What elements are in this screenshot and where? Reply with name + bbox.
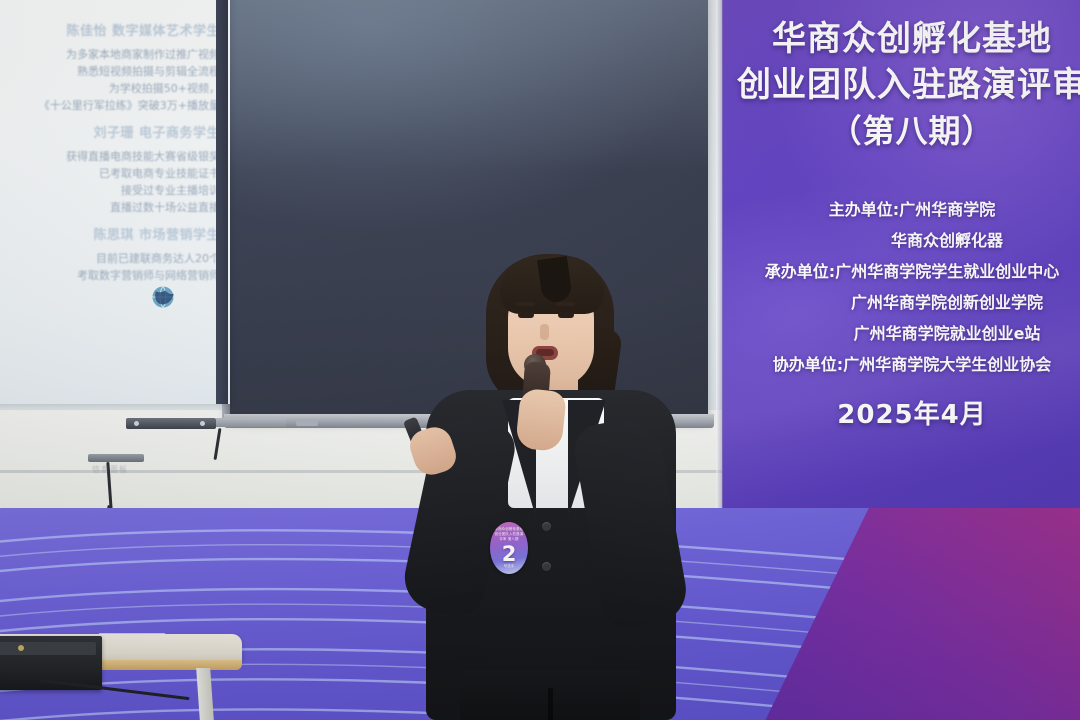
slide-block-heading: 刘子珊 电子商务学生 <box>0 122 220 141</box>
backdrop-title-line1: 华商众创孵化基地 <box>772 19 1052 59</box>
slide-bullet: 接受过专业主播培训 <box>0 182 220 199</box>
organizer-row: 协办单位:广州华商学院大学生创业协会 <box>722 349 1080 380</box>
backdrop-title-line2: 创业团队入驻路演评审 <box>722 62 1080 108</box>
organizer-value: 广州华商学院创新创业学院 <box>851 293 1043 312</box>
eye-left <box>518 312 534 318</box>
slide-bullet: 为学校拍摄50+视频， <box>0 80 220 97</box>
jacket-button <box>542 562 551 571</box>
slide-block: 陈佳怡 数字媒体艺术学生 为多家本地商家制作过推广视频 熟悉短视频拍摄与剪辑全流… <box>0 20 220 114</box>
device-led <box>18 645 24 651</box>
backdrop-organizer-list: 主办单位:广州华商学院 华商众创孵化器 承办单位:广州华商学院学生就业创业中心 … <box>722 194 1080 380</box>
globe-icon <box>150 284 176 310</box>
projection-screen: 陈佳怡 数字媒体艺术学生 为多家本地商家制作过推广视频 熟悉短视频拍摄与剪辑全流… <box>0 0 230 404</box>
slide-bullet: 为多家本地商家制作过推广视频 <box>0 46 220 63</box>
device-slot <box>0 642 96 655</box>
badge-subtext: 号选手 <box>490 564 528 569</box>
backdrop-title-line3: （第八期） <box>722 108 1080 154</box>
speaker-person: 华商众创孵化基地 创业团队入驻路演评审 第八期 2 号选手 <box>390 250 690 720</box>
organizer-row: 广州华商学院创新创业学院 <box>722 287 1080 318</box>
event-photo-stage: 陈佳怡 数字媒体艺术学生 为多家本地商家制作过推广视频 熟悉短视频拍摄与剪辑全流… <box>0 0 1080 720</box>
trouser-seam <box>548 688 553 720</box>
backdrop-date: 2025年4月 <box>722 394 1080 431</box>
eye-right <box>558 312 574 318</box>
eyebrow-right <box>556 302 575 306</box>
slide-block: 陈思琪 市场营销学生 目前已建联商务达人20个 考取数字营销师与网络营销师 <box>0 224 220 284</box>
screen-mount-plate <box>216 418 286 427</box>
wall-socket-label: 信息面板 <box>92 464 144 476</box>
slide-bullet: 已考取电商专业技能证书 <box>0 165 220 182</box>
blackboard-glare <box>228 0 708 171</box>
slide-bullet: 《十公里行军拉练》突破3万+播放量 <box>0 97 220 114</box>
slide-bullet: 目前已建联商务达人20个 <box>0 250 220 267</box>
badge-org-text: 华商众创孵化基地 创业团队入驻路演评审 第八期 <box>494 527 524 542</box>
contestant-badge: 华商众创孵化基地 创业团队入驻路演评审 第八期 2 号选手 <box>490 522 528 574</box>
slide-bullet: 获得直播电商技能大赛省级银奖 <box>0 148 220 165</box>
backdrop-title: 华商众创孵化基地 创业团队入驻路演评审 （第八期） <box>722 16 1080 154</box>
slide-bullet: 直播过数十场公益直播 <box>0 199 220 216</box>
control-indicator-dot <box>134 421 139 426</box>
slide-block-heading: 陈佳怡 数字媒体艺术学生 <box>0 20 220 39</box>
organizer-row: 承办单位:广州华商学院学生就业创业中心 <box>722 256 1080 287</box>
badge-number: 2 <box>490 542 528 566</box>
organizer-value: 广州华商学院学生就业创业中心 <box>835 262 1059 281</box>
organizer-value: 广州华商学院大学生创业协会 <box>843 355 1051 374</box>
projection-screen-bezel <box>216 0 228 404</box>
organizer-value: 广州华商学院就业创业e站 <box>854 324 1041 343</box>
organizer-value: 华商众创孵化器 <box>891 231 1003 250</box>
eyebrow-left <box>516 302 535 306</box>
organizer-row: 主办单位:广州华商学院 <box>722 194 1080 225</box>
organizer-label: 主办单位: <box>829 200 899 219</box>
slide-bullet: 考取数字营销师与网络营销师 <box>0 267 220 284</box>
wall-socket-panel[interactable] <box>88 454 144 462</box>
jacket-button <box>542 522 551 531</box>
organizer-label: 承办单位: <box>765 262 835 281</box>
screen-mount-bracket <box>296 419 318 426</box>
slide-bullet: 熟悉短视频拍摄与剪辑全流程 <box>0 63 220 80</box>
screen-control-strip[interactable] <box>126 418 216 429</box>
organizer-row: 华商众创孵化器 <box>722 225 1080 256</box>
nose <box>540 324 549 340</box>
control-indicator-dot <box>200 421 205 426</box>
organizer-row: 广州华商学院就业创业e站 <box>722 318 1080 349</box>
organizer-value: 广州华商学院 <box>899 200 995 219</box>
slide-block: 刘子珊 电子商务学生 获得直播电商技能大赛省级银奖 已考取电商专业技能证书 接受… <box>0 122 220 216</box>
slide-block-heading: 陈思琪 市场营销学生 <box>0 224 220 243</box>
organizer-label: 协办单位: <box>773 355 843 374</box>
presentation-slide: 陈佳怡 数字媒体艺术学生 为多家本地商家制作过推广视频 熟悉短视频拍摄与剪辑全流… <box>0 0 230 404</box>
